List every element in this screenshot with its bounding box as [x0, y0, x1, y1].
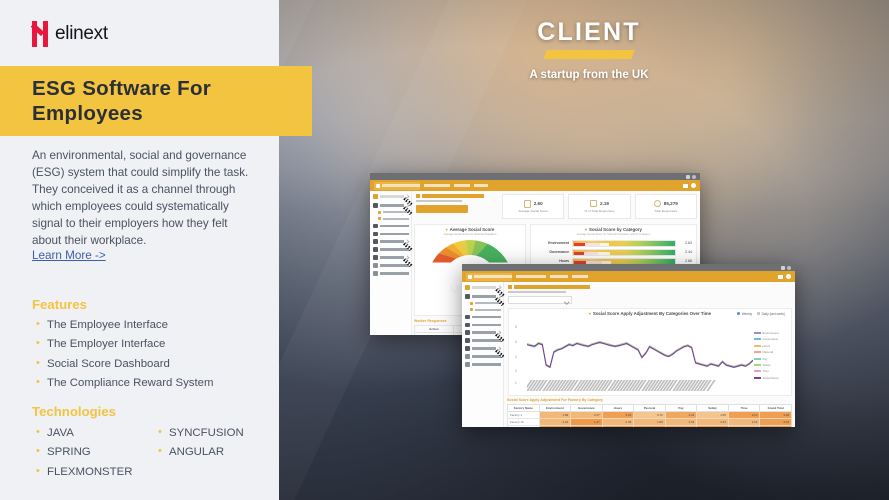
list-item: SYNCFUSION	[158, 424, 244, 443]
chevron-right-icon	[497, 285, 501, 289]
sidebar-item-calendar-view[interactable]	[373, 239, 409, 244]
sidebar-item-notifications[interactable]	[465, 323, 501, 328]
radio-icon	[757, 312, 760, 315]
kpi-label: % of Total Responses	[585, 209, 615, 213]
list-item: FLEXMONSTER	[36, 463, 132, 482]
cell-value: 1.47	[571, 418, 603, 425]
link-icon	[465, 362, 470, 367]
technologies-column-2: SYNCFUSION ANGULAR	[158, 424, 244, 463]
y-axis-tick: 4	[515, 340, 517, 344]
grid-icon	[465, 294, 470, 299]
thermometer-icon	[524, 200, 531, 208]
sidebar[interactable]	[370, 191, 412, 335]
link-icon	[373, 263, 378, 268]
grid-icon	[373, 203, 378, 208]
column-header: Governance	[571, 404, 603, 411]
category-value: 2.44	[679, 250, 692, 254]
column-header: Time	[728, 404, 760, 411]
sidebar-item-notifications[interactable]	[373, 232, 409, 237]
briefcase-icon	[373, 224, 378, 229]
chart-toggle-group[interactable]: Weekly Daily (last week)	[737, 312, 785, 316]
legend-item: Safety	[754, 363, 788, 367]
app-header-bar	[370, 180, 700, 191]
cell-value: 3.32	[665, 411, 697, 418]
y-axis-tick: 5	[515, 325, 517, 329]
radio-weekly[interactable]: Weekly	[737, 312, 752, 316]
column-header: Grand Total	[760, 404, 792, 411]
factory-name: Factory 11	[508, 425, 540, 427]
metric-select[interactable]	[508, 296, 572, 304]
chart-icon	[465, 346, 470, 351]
chevron-right-icon	[498, 347, 502, 351]
column-header: Pay	[665, 404, 697, 411]
legend-item: Social Score	[754, 376, 788, 380]
list-item: The Compliance Reward System	[36, 374, 214, 393]
gauge-needle	[445, 268, 459, 292]
table-title: Social Score Apply Adjustment For Factor…	[507, 398, 792, 402]
link-icon	[373, 271, 378, 276]
bullet-icon	[378, 211, 381, 214]
kpi-percent-total-responses: 2.19 % of Total Responses	[568, 194, 630, 219]
cell-value: 3.05	[539, 425, 571, 427]
column-header: Factory Name	[508, 404, 540, 411]
kpi-average-social-score: 2.60 Average Social Score	[502, 194, 564, 219]
cell-value: 1.43	[697, 425, 729, 427]
category-chart-title: Social Score by Category	[531, 227, 696, 232]
cell-value: 2.48	[602, 418, 634, 425]
dashboard-page-subtitle	[508, 291, 566, 293]
factory-name: Factory 1	[508, 411, 540, 418]
dashboard-page-title	[508, 285, 792, 289]
sidebar[interactable]	[462, 282, 504, 427]
radio-icon	[737, 312, 740, 315]
window-controls[interactable]	[781, 266, 792, 270]
dashboard-page-subtitle	[416, 200, 462, 202]
kpi-label: Total Responses	[654, 209, 677, 213]
sidebar-item-trade-finance[interactable]	[373, 224, 409, 229]
column-header: Safety	[697, 404, 729, 411]
cell-value: 1.87	[634, 425, 666, 427]
sidebar-item-calendar-view[interactable]	[465, 330, 501, 335]
hero-description: An environmental, social and governance …	[32, 148, 254, 250]
y-axis-tick: 2	[515, 369, 517, 373]
bell-icon	[465, 323, 470, 328]
chart-series-svg	[527, 323, 753, 377]
table: Factory NameEnvironmentGovernanceHoursPa…	[507, 404, 792, 428]
brand-name: elinext	[55, 23, 108, 45]
cell-value: 3.03	[602, 411, 634, 418]
cell-value: 1.82	[760, 425, 792, 427]
category-name: Environment	[535, 241, 569, 245]
dashboard-window-algorithm-results[interactable]: Social Score Apply Adjustment By Categor…	[462, 264, 795, 427]
bullet-icon	[470, 302, 473, 305]
list-item: Social Score Dashboard	[36, 355, 214, 374]
kpi-value: 2.19	[600, 201, 609, 206]
app-header-bar	[462, 271, 795, 282]
column-header: Pastoral	[634, 404, 666, 411]
table-header-row: Factory NameEnvironmentGovernanceHoursPa…	[508, 404, 792, 411]
legend-item: Pastoral	[754, 350, 788, 354]
cell-value: 3.04	[760, 418, 792, 425]
table-row: Environment 2.63	[535, 240, 692, 247]
chevron-right-icon	[406, 256, 410, 260]
technologies-column-1: JAVA SPRING FLEXMONSTER	[36, 424, 132, 482]
cell-value: 1.43	[602, 425, 634, 427]
x-axis-labels	[527, 378, 753, 392]
page-icon	[416, 194, 420, 198]
chevron-right-icon	[406, 240, 410, 244]
legend-item: Time	[754, 369, 788, 373]
mail-icon	[683, 184, 688, 188]
client-subtitle: A startup from the UK	[484, 69, 694, 81]
app-logo-icon	[374, 182, 420, 190]
cell-value: 3.09	[760, 411, 792, 418]
legend-item: Environment	[754, 331, 788, 335]
cell-value: 3.41	[665, 425, 697, 427]
sidebar-item-trade-finance[interactable]	[465, 315, 501, 320]
category-name: Hours	[535, 259, 569, 263]
breadcrumb	[516, 275, 588, 277]
browser-chrome-bar	[370, 173, 700, 180]
category-chart-subtitle: Average Social Score for Selected Suppli…	[531, 233, 696, 236]
hero-title-band: ESG Software For Employees	[0, 66, 312, 136]
mail-icon	[778, 275, 783, 279]
table-row: Factory 113.051.401.431.873.411.432.331.…	[508, 425, 792, 427]
header-actions[interactable]	[683, 183, 696, 188]
features-list: The Employee Interface The Employer Inte…	[36, 316, 214, 394]
kpi-value: 85,279	[664, 201, 678, 206]
y-axis-tick: 3	[515, 355, 517, 359]
legend-item: Pay	[754, 357, 788, 361]
category-value: 2.86	[679, 259, 692, 263]
dashboard-main: Social Score Apply Adjustment By Categor…	[504, 282, 795, 427]
radio-daily[interactable]: Daily (last week)	[757, 312, 785, 316]
list-item: ANGULAR	[158, 443, 244, 462]
learn-more-link[interactable]: Learn More ->	[32, 249, 106, 262]
legend-item: Governance	[754, 337, 788, 341]
factory-name: Factory 10	[508, 418, 540, 425]
gauge-title: Average Social Score	[415, 227, 525, 232]
features-heading: Features	[32, 297, 87, 312]
app-logo-icon	[466, 273, 512, 281]
legend-item: Hours	[754, 344, 788, 348]
gauge-subtitle: Average Social Score for Selected Suppli…	[415, 233, 525, 236]
bullet-icon	[378, 217, 381, 220]
cell-value: 2.19	[728, 418, 760, 425]
card-icon	[373, 247, 378, 252]
kpi-total-responses: 85,279 Total Responses	[635, 194, 697, 219]
header-actions[interactable]	[778, 274, 791, 279]
list-item: The Employer Interface	[36, 335, 214, 354]
column-header: Hours	[602, 404, 634, 411]
cell-value: 1.99	[634, 418, 666, 425]
elinext-n-mark-icon	[32, 21, 49, 47]
category-bar	[572, 249, 676, 256]
link-icon	[465, 354, 470, 359]
list-item: JAVA	[36, 424, 132, 443]
client-block: CLIENT A startup from the UK	[484, 18, 694, 81]
breadcrumb	[424, 184, 488, 186]
bell-icon	[373, 232, 378, 237]
cell-value: 3.10	[728, 411, 760, 418]
column-header: Action	[415, 326, 454, 333]
cell-value: 1.99	[539, 411, 571, 418]
cell-value: 2.44	[697, 418, 729, 425]
cell-value: 2.33	[728, 425, 760, 427]
brand-logo[interactable]: elinext	[32, 21, 108, 47]
user-icon	[465, 285, 470, 290]
sidebar-item-user[interactable]	[373, 194, 409, 199]
cell-value: 1.40	[571, 425, 603, 427]
card-icon	[465, 338, 470, 343]
chevron-right-icon	[498, 331, 502, 335]
sidebar-item-user[interactable]	[465, 285, 501, 290]
category-name: Governance	[535, 250, 569, 254]
table-row: Factory 102.441.472.481.992.542.442.193.…	[508, 418, 792, 425]
chart-legend: Environment Governance Hours Pastoral Pa…	[754, 331, 788, 382]
user-icon	[373, 194, 378, 199]
avatar	[786, 274, 791, 279]
browser-chrome-bar	[462, 264, 795, 271]
calendar-icon	[373, 239, 378, 244]
column-header: Environment	[539, 404, 571, 411]
avatar	[691, 183, 696, 188]
list-item: The Employee Interface	[36, 316, 214, 335]
page-title: ESG Software For Employees	[0, 76, 312, 126]
kpi-label: Average Social Score	[518, 209, 548, 213]
table-row: Factory 11.992.273.030.723.321.053.103.0…	[508, 411, 792, 418]
timeseries-chart: Social Score Apply Adjustment By Categor…	[508, 308, 792, 396]
table-row: Governance 2.44	[535, 249, 692, 256]
square-icon	[590, 200, 597, 207]
cell-value: 2.54	[665, 418, 697, 425]
chevron-right-icon	[405, 194, 409, 198]
client-title: CLIENT	[484, 18, 694, 47]
results-table: Social Score Apply Adjustment For Factor…	[507, 398, 792, 427]
bullet-icon	[470, 308, 473, 311]
briefcase-icon	[465, 315, 470, 320]
chart-plot-area	[527, 323, 753, 377]
kpi-value: 2.60	[534, 201, 543, 206]
kpi-row: 2.60 Average Social Score 2.19 % of Tota…	[502, 194, 697, 219]
cell-value: 1.05	[697, 411, 729, 418]
window-controls[interactable]	[686, 175, 697, 179]
technologies-heading: Technologies	[32, 404, 116, 419]
calendar-icon	[465, 330, 470, 335]
chart-icon	[373, 255, 378, 260]
cell-value: 2.27	[571, 411, 603, 418]
y-axis-tick: 1	[515, 381, 517, 385]
cell-value: 2.44	[539, 418, 571, 425]
category-value: 2.63	[679, 241, 692, 245]
client-accent-bar	[543, 50, 635, 59]
cell-value: 0.72	[634, 411, 666, 418]
logo-area: elinext	[0, 0, 279, 66]
page-icon	[508, 285, 512, 289]
select-suppliers-button[interactable]	[416, 205, 468, 213]
category-bar	[572, 240, 676, 247]
clock-icon	[654, 200, 661, 207]
list-item: SPRING	[36, 443, 132, 462]
